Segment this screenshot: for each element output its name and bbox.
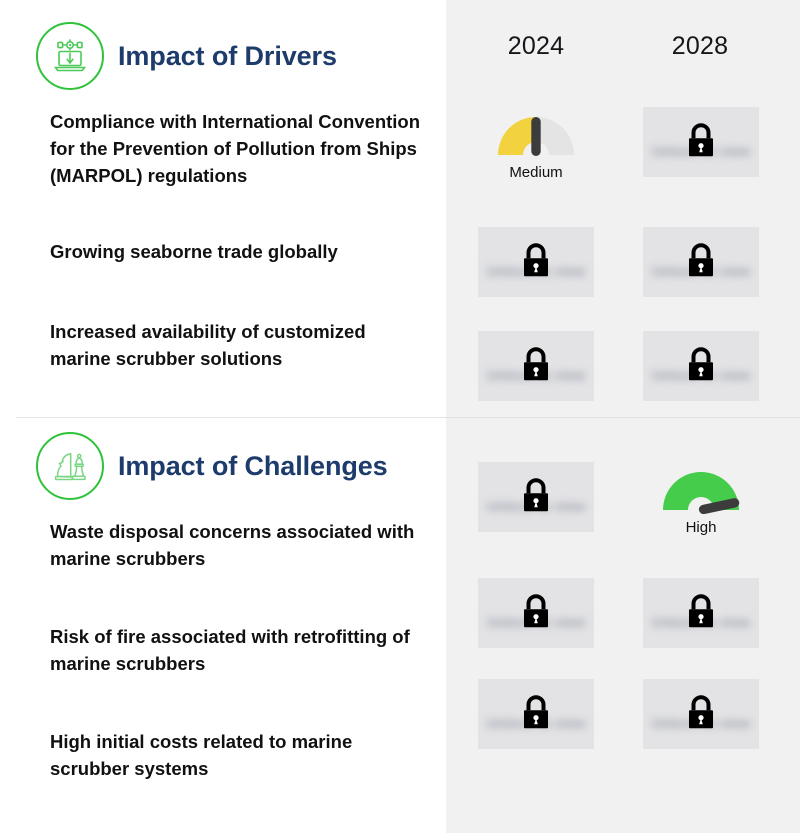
section-header-drivers: Impact of Drivers	[36, 22, 337, 90]
locked-cell[interactable]: Unlock to view	[478, 462, 594, 532]
lock-icon	[519, 693, 553, 733]
gauge-label-high: High	[643, 519, 759, 536]
lock-icon	[684, 345, 718, 385]
driver-row-2-cell-2028[interactable]: Unlock to view	[643, 227, 759, 297]
driver-row-2-cell-2024[interactable]: Unlock to view	[478, 227, 594, 297]
challenge-row-label-2: Risk of fire associated with retrofittin…	[50, 623, 422, 677]
challenge-row-label-1: Waste disposal concerns associated with …	[50, 518, 422, 572]
gauge-label-medium: Medium	[478, 164, 594, 181]
locked-cell[interactable]: Unlock to view	[643, 331, 759, 401]
driver-row-1-cell-2024[interactable]: Medium	[478, 107, 594, 177]
driver-row-label-2: Growing seaborne trade globally	[50, 238, 422, 265]
lock-icon	[519, 345, 553, 385]
challenge-row-3-cell-2028[interactable]: Unlock to view	[643, 679, 759, 749]
locked-cell[interactable]: Unlock to view	[478, 331, 594, 401]
gauge-high: High	[643, 462, 759, 532]
driver-row-3-cell-2028[interactable]: Unlock to view	[643, 331, 759, 401]
challenge-row-3-cell-2024[interactable]: Unlock to view	[478, 679, 594, 749]
section-title-challenges: Impact of Challenges	[118, 451, 388, 482]
driver-row-label-1: Compliance with International Convention…	[50, 108, 422, 189]
infographic-root: 2024 2028 Impact of Drivers Compl	[0, 0, 800, 833]
locked-cell[interactable]: Unlock to view	[478, 578, 594, 648]
challenge-row-label-3: High initial costs related to marine scr…	[50, 728, 422, 782]
locked-cell[interactable]: Unlock to view	[478, 679, 594, 749]
driver-row-1-cell-2028[interactable]: Unlock to view	[643, 107, 759, 177]
lock-icon	[684, 693, 718, 733]
impact-challenges-icon	[36, 432, 104, 500]
impact-drivers-icon	[36, 22, 104, 90]
section-divider	[16, 417, 800, 418]
locked-cell[interactable]: Unlock to view	[643, 227, 759, 297]
lock-icon	[519, 592, 553, 632]
gauge-dial-icon	[494, 109, 578, 159]
driver-row-label-3: Increased availability of customized mar…	[50, 318, 422, 372]
section-title-drivers: Impact of Drivers	[118, 41, 337, 72]
section-header-challenges: Impact of Challenges	[36, 432, 388, 500]
lock-icon	[519, 476, 553, 516]
locked-cell[interactable]: Unlock to view	[643, 679, 759, 749]
locked-cell[interactable]: Unlock to view	[478, 227, 594, 297]
lock-icon	[519, 241, 553, 281]
year-header-2024: 2024	[466, 26, 606, 66]
gauge-dial-icon	[659, 464, 743, 514]
challenge-row-1-cell-2024[interactable]: Unlock to view	[478, 462, 594, 532]
locked-cell[interactable]: Unlock to view	[643, 107, 759, 177]
driver-row-3-cell-2024[interactable]: Unlock to view	[478, 331, 594, 401]
locked-cell[interactable]: Unlock to view	[643, 578, 759, 648]
challenge-row-2-cell-2024[interactable]: Unlock to view	[478, 578, 594, 648]
year-header-2028: 2028	[630, 26, 770, 66]
gauge-medium: Medium	[478, 107, 594, 177]
lock-icon	[684, 241, 718, 281]
challenge-row-1-cell-2028[interactable]: High	[643, 462, 759, 532]
challenge-row-2-cell-2028[interactable]: Unlock to view	[643, 578, 759, 648]
lock-icon	[684, 592, 718, 632]
lock-icon	[684, 121, 718, 161]
